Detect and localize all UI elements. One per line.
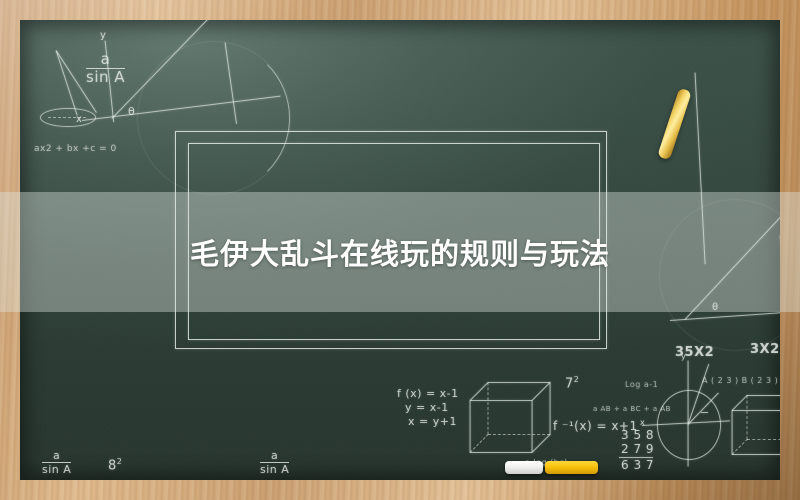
seven-squared: 72 [565, 375, 579, 391]
cube2-back-top [747, 395, 780, 396]
yellow-chalk-piece-icon [545, 461, 598, 474]
cube-front-left [469, 401, 470, 453]
function-x-eq: x = y+1 [408, 415, 457, 428]
cube-front-top [470, 400, 532, 401]
function-fx: f (x) = x-1 [397, 387, 459, 400]
quadratic-equation: ax2 + bx +c = 0 [34, 144, 117, 154]
matrix-row-notation: A ( 2 3 ) B ( 2 3 ) I ( 2 3 ) [702, 376, 780, 385]
cube-hidden-diag [470, 434, 489, 453]
fraction-denominator: sin A [86, 68, 125, 86]
page-title: 毛伊大乱斗在线玩的规则与玩法 [0, 192, 800, 312]
matrix-label-3x2: 3X2 [750, 342, 780, 357]
function-y-eq: y = x-1 [405, 401, 449, 414]
cube-bottom-right-diag [532, 434, 551, 453]
cube-back-top [488, 382, 550, 383]
cube2-front-bottom [732, 454, 780, 455]
cube-front-bottom [470, 452, 532, 453]
cube2-hidden-diag [732, 439, 748, 455]
cube-front-right [531, 401, 532, 453]
sum-line-two: 2 7 9 [621, 442, 654, 456]
unit-circle-label-x: x [640, 418, 645, 427]
eight-base: 8 [108, 458, 117, 473]
cube-top-left-diag [470, 382, 489, 401]
unit-circle-label-y: y [681, 352, 686, 361]
unit-circle-right-angle [701, 412, 708, 413]
cube2-hidden-left [747, 396, 748, 440]
frac-left-den: sin A [42, 462, 71, 476]
frac-left-num: a [42, 450, 71, 462]
cone-left-edge [55, 50, 77, 115]
cube-hidden-bottom [488, 434, 550, 435]
frac-a-sin-a-center: a sin A [260, 450, 289, 475]
sum-line-one: 3 5 8 [621, 428, 654, 442]
cube2-diag-tl [732, 395, 748, 411]
cube2-front-left [731, 411, 732, 455]
eight-squared: 82 [108, 457, 122, 473]
seven-exponent: 2 [574, 375, 580, 384]
eight-exponent: 2 [117, 457, 123, 466]
frac-center-num: a [260, 450, 289, 462]
screenshot-root: a sin A y x θ ax2 + bx +c = 0 θ f (x) = … [0, 0, 800, 500]
frac-a-sin-a-left: a sin A [42, 450, 71, 475]
white-chalk-piece-icon [505, 461, 543, 474]
cube2-front-top [732, 410, 780, 411]
axis-label-x: x [76, 114, 82, 125]
axis-label-y: y [100, 30, 106, 41]
log-a-note: Log a-1 [625, 380, 658, 389]
sum-result: 6 3 7 [621, 458, 654, 472]
unit-circle-y-axis [687, 361, 688, 467]
cube-back-right [549, 383, 550, 435]
angle-theta-label: θ [128, 105, 135, 118]
frac-center-den: sin A [260, 462, 289, 476]
cube-hidden-left [488, 383, 489, 435]
cube-top-right-diag [532, 382, 551, 401]
seven-base: 7 [565, 376, 574, 391]
cube2-hidden-bottom [747, 439, 780, 440]
